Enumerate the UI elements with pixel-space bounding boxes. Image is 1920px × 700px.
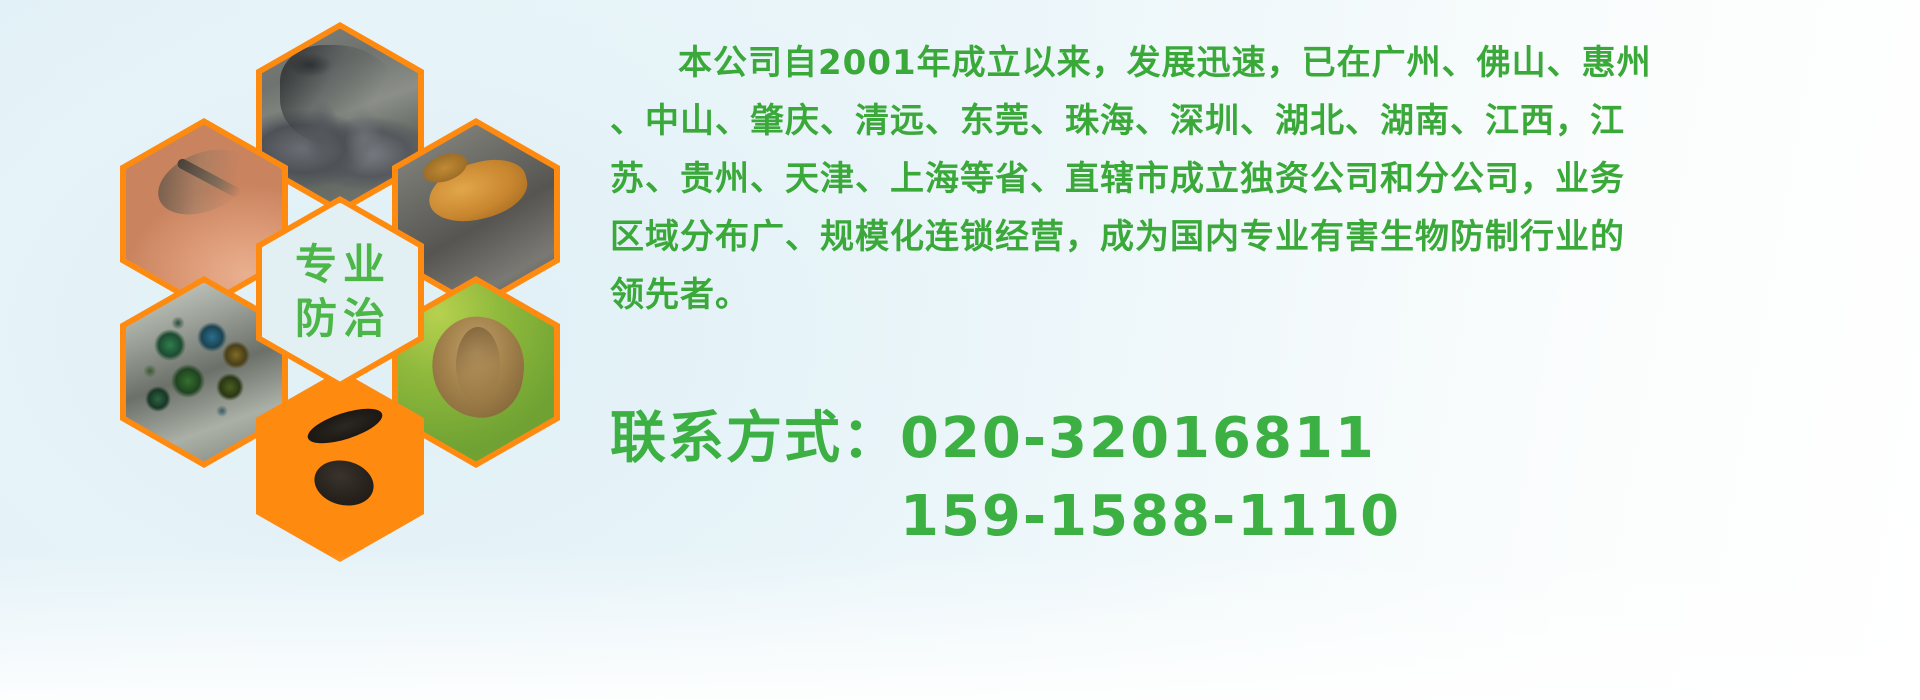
contact-primary-phone[interactable]: 联系方式：020-32016811: [610, 400, 1900, 478]
ant-image: [262, 377, 418, 556]
promo-banner: 专业 防治 本公司自2001年成立以来，发展迅速，已在广州、佛山、惠州 、中山、…: [0, 0, 1920, 700]
intro-copy: 本公司自2001年成立以来，发展迅速，已在广州、佛山、惠州 、中山、肇庆、清远、…: [610, 34, 1900, 324]
contact-secondary-phone[interactable]: 159-1588-1110: [610, 478, 1900, 556]
badge-line-1: 专业: [289, 241, 391, 289]
hexagon-photo-cluster: 专业 防治: [86, 8, 586, 568]
intro-line-4: 区域分布广、规模化连锁经营，成为国内专业有害生物防制行业的: [610, 208, 1900, 266]
ant-photo-frame: [262, 377, 418, 556]
intro-line-2: 、中山、肇庆、清远、东莞、珠海、深圳、湖北、湖南、江西，江: [610, 92, 1900, 150]
intro-paragraph: 本公司自2001年成立以来，发展迅速，已在广州、佛山、惠州 、中山、肇庆、清远、…: [610, 34, 1900, 324]
badge-line-2: 防治: [289, 295, 391, 343]
center-badge-frame: 专业 防治: [262, 203, 418, 382]
intro-line-5: 领先者。: [610, 266, 1900, 324]
intro-line-1: 本公司自2001年成立以来，发展迅速，已在广州、佛山、惠州: [610, 34, 1900, 92]
contact-block: 联系方式：020-32016811 159-1588-1110: [610, 400, 1900, 556]
intro-line-3: 苏、贵州、天津、上海等省、直辖市成立独资公司和分公司，业务: [610, 150, 1900, 208]
